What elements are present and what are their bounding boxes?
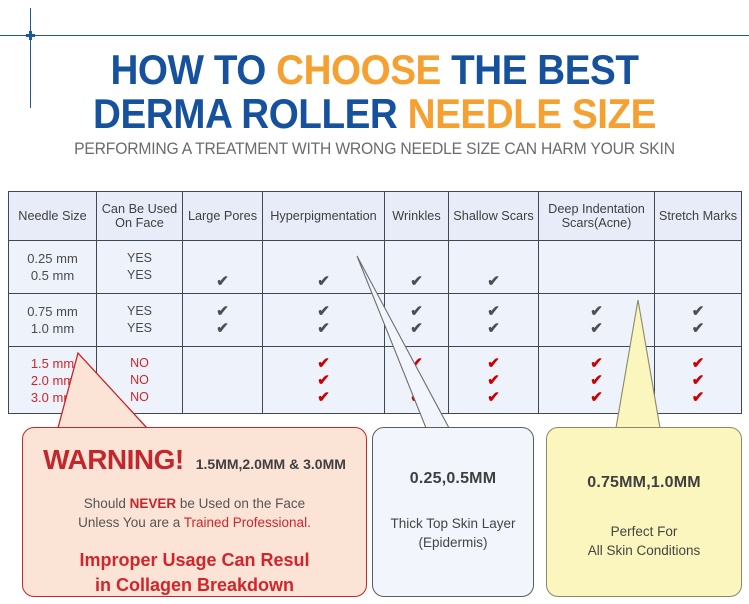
- needle-size-value: 1.5 mm: [31, 355, 74, 372]
- face-usability-value: NO: [130, 389, 149, 406]
- warning-line1-c: be Used on the Face: [176, 496, 305, 511]
- cell-deep-indentation: [539, 241, 655, 294]
- checkmark-icon: ✔: [487, 320, 500, 337]
- table-row: 0.75 mm1.0 mmYESYES✔✔✔✔✔✔✔✔✔✔✔✔: [9, 294, 742, 347]
- column-header-line-2: Scars(Acne): [539, 216, 654, 230]
- needle-size-value: 0.75 mm: [27, 303, 78, 320]
- epidermis-callout-box: 0.25,0.5MM Thick Top Skin Layer (Epiderm…: [372, 427, 534, 597]
- warning-title: WARNING!: [43, 444, 184, 476]
- warning-trained-professional-emphasis: Trained Professional.: [184, 515, 311, 530]
- table-row: 1.5 mm2.0 mm3.0 mmNONONO✔✔✔✔✔✔✔✔✔✔✔✔✔✔✔: [9, 347, 742, 414]
- checkmark-icon: ✔: [410, 355, 423, 372]
- cell-large-pores: ✔: [183, 241, 263, 294]
- headline-line-1-part-2: CHOOSE: [276, 46, 441, 93]
- checkmark-icon: ✔: [317, 372, 330, 389]
- perfect-heading: 0.75MM,1.0MM: [547, 474, 741, 492]
- warning-consequence: Improper Usage Can Resul in Collagen Bre…: [23, 548, 366, 598]
- checkmark-icon: ✔: [317, 320, 330, 337]
- cell-can-be-used-on-face: YESYES: [97, 294, 183, 347]
- checkmark-icon: ✔: [487, 372, 500, 389]
- headline-line-2-part-2: NEEDLE SIZE: [408, 90, 656, 137]
- column-header-line-1: Can Be Used: [97, 202, 182, 216]
- checkmark-icon: ✔: [487, 355, 500, 372]
- warning-message-line-1: Should NEVER be Used on the Face: [23, 494, 366, 513]
- column-header-line-1: Deep Indentation: [539, 202, 654, 216]
- checkmark-icon: ✔: [487, 389, 500, 406]
- epidermis-body-line-1: Thick Top Skin Layer: [373, 514, 533, 533]
- headline-line-2: DERMA ROLLER NEEDLE SIZE: [30, 92, 719, 136]
- column-header-wrinkles: Wrinkles: [385, 192, 449, 241]
- cell-wrinkles: ✔✔: [385, 294, 449, 347]
- column-header-deep-indentation-scars: Deep Indentation Scars(Acne): [539, 192, 655, 241]
- warning-line1-a: Should: [84, 496, 130, 511]
- cell-needle-size: 1.5 mm2.0 mm3.0 mm: [9, 347, 97, 414]
- checkmark-icon: ✔: [590, 303, 603, 320]
- cell-wrinkles: ✔: [385, 241, 449, 294]
- checkmark-icon: ✔: [590, 320, 603, 337]
- cell-deep-indentation: ✔✔✔: [539, 347, 655, 414]
- crop-mark-horizontal-line: [0, 35, 749, 36]
- cell-deep-indentation: ✔✔: [539, 294, 655, 347]
- needle-size-value: 0.25 mm: [27, 250, 78, 267]
- column-header-shallow-scars: Shallow Scars: [449, 192, 539, 241]
- checkmark-icon: ✔: [410, 389, 423, 406]
- warning-consequence-line-1: Improper Usage Can Resul: [23, 548, 366, 573]
- cell-stretch-marks: ✔✔: [655, 294, 742, 347]
- checkmark-icon: ✔: [692, 303, 705, 320]
- checkmark-icon: ✔: [410, 303, 423, 320]
- headline-line-1-part-1: HOW TO: [110, 46, 276, 93]
- face-usability-value: YES: [127, 303, 152, 320]
- headline-subtitle: PERFORMING A TREATMENT WITH WRONG NEEDLE…: [19, 140, 731, 159]
- checkmark-icon: ✔: [692, 355, 705, 372]
- warning-line2-a: Unless You are a: [78, 515, 184, 530]
- cell-stretch-marks: ✔✔✔: [655, 347, 742, 414]
- needle-size-value: 0.5 mm: [31, 267, 74, 284]
- checkmark-icon: ✔: [410, 273, 423, 290]
- cell-shallow-scars: ✔✔✔: [449, 347, 539, 414]
- checkmark-icon: ✔: [590, 389, 603, 406]
- checkmark-icon: ✔: [410, 372, 423, 389]
- checkmark-icon: ✔: [216, 303, 229, 320]
- face-usability-value: NO: [130, 372, 149, 389]
- registration-plus-icon: [26, 31, 35, 40]
- epidermis-body-line-2: (Epidermis): [373, 533, 533, 552]
- table-row: 0.25 mm0.5 mmYESYES✔✔✔✔: [9, 241, 742, 294]
- table-body: 0.25 mm0.5 mmYESYES✔✔✔✔0.75 mm1.0 mmYESY…: [9, 241, 742, 414]
- checkmark-icon: ✔: [317, 303, 330, 320]
- face-usability-value: YES: [127, 250, 152, 267]
- checkmark-icon: ✔: [317, 355, 330, 372]
- checkmark-icon: ✔: [692, 389, 705, 406]
- needle-size-value: 2.0 mm: [31, 372, 74, 389]
- face-usability-value: YES: [127, 267, 152, 284]
- checkmark-icon: ✔: [487, 303, 500, 320]
- cell-can-be-used-on-face: NONONO: [97, 347, 183, 414]
- headline-line-1-part-3: THE BEST: [441, 46, 639, 93]
- cell-needle-size: 0.25 mm0.5 mm: [9, 241, 97, 294]
- needle-size-value: 1.0 mm: [31, 320, 74, 337]
- checkmark-icon: ✔: [590, 372, 603, 389]
- checkmark-icon: ✔: [692, 372, 705, 389]
- table-header-row: Needle Size Can Be Used On Face Large Po…: [9, 192, 742, 241]
- cell-shallow-scars: ✔✔: [449, 294, 539, 347]
- checkmark-icon: ✔: [590, 355, 603, 372]
- cell-hyperpigmentation: ✔✔: [263, 294, 385, 347]
- headline-block: HOW TO CHOOSE THE BEST DERMA ROLLER NEED…: [0, 48, 749, 159]
- cell-stretch-marks: [655, 241, 742, 294]
- perfect-body-line-2: All Skin Conditions: [547, 541, 741, 560]
- checkmark-icon: ✔: [487, 273, 500, 290]
- perfect-callout-box: 0.75MM,1.0MM Perfect For All Skin Condit…: [546, 427, 742, 597]
- warning-message: Should NEVER be Used on the Face Unless …: [23, 494, 366, 532]
- epidermis-heading: 0.25,0.5MM: [373, 470, 533, 488]
- face-usability-value: NO: [130, 355, 149, 372]
- needle-size-comparison-table: Needle Size Can Be Used On Face Large Po…: [8, 191, 742, 414]
- warning-consequence-line-2: in Collagen Breakdown: [23, 573, 366, 598]
- checkmark-icon: ✔: [692, 320, 705, 337]
- cell-shallow-scars: ✔: [449, 241, 539, 294]
- needle-size-value: 3.0 mm: [31, 389, 74, 406]
- cell-large-pores: ✔✔: [183, 294, 263, 347]
- warning-sizes-label: 1.5MM,2.0MM & 3.0MM: [196, 456, 346, 472]
- epidermis-body: Thick Top Skin Layer (Epidermis): [373, 514, 533, 552]
- cell-hyperpigmentation: ✔✔✔: [263, 347, 385, 414]
- cell-wrinkles: ✔✔✔: [385, 347, 449, 414]
- face-usability-value: YES: [127, 320, 152, 337]
- cell-hyperpigmentation: ✔: [263, 241, 385, 294]
- column-header-large-pores: Large Pores: [183, 192, 263, 241]
- headline-line-1: HOW TO CHOOSE THE BEST: [30, 48, 719, 92]
- warning-title-row: WARNING! 1.5MM,2.0MM & 3.0MM: [23, 444, 366, 476]
- checkmark-icon: ✔: [317, 273, 330, 290]
- checkmark-icon: ✔: [216, 320, 229, 337]
- column-header-hyperpigmentation: Hyperpigmentation: [263, 192, 385, 241]
- cell-needle-size: 0.75 mm1.0 mm: [9, 294, 97, 347]
- warning-callout-box: WARNING! 1.5MM,2.0MM & 3.0MM Should NEVE…: [22, 427, 367, 597]
- column-header-stretch-marks: Stretch Marks: [655, 192, 742, 241]
- checkmark-icon: ✔: [216, 273, 229, 290]
- checkmark-icon: ✔: [317, 389, 330, 406]
- column-header-needle-size: Needle Size: [9, 192, 97, 241]
- warning-message-line-2: Unless You are a Trained Professional.: [23, 513, 366, 532]
- cell-large-pores: [183, 347, 263, 414]
- perfect-body: Perfect For All Skin Conditions: [547, 522, 741, 560]
- checkmark-icon: ✔: [410, 320, 423, 337]
- column-header-line-2: On Face: [97, 216, 182, 230]
- perfect-body-line-1: Perfect For: [547, 522, 741, 541]
- column-header-can-be-used-on-face: Can Be Used On Face: [97, 192, 183, 241]
- cell-can-be-used-on-face: YESYES: [97, 241, 183, 294]
- headline-line-2-part-1: DERMA ROLLER: [93, 90, 408, 137]
- warning-never-emphasis: NEVER: [130, 496, 177, 511]
